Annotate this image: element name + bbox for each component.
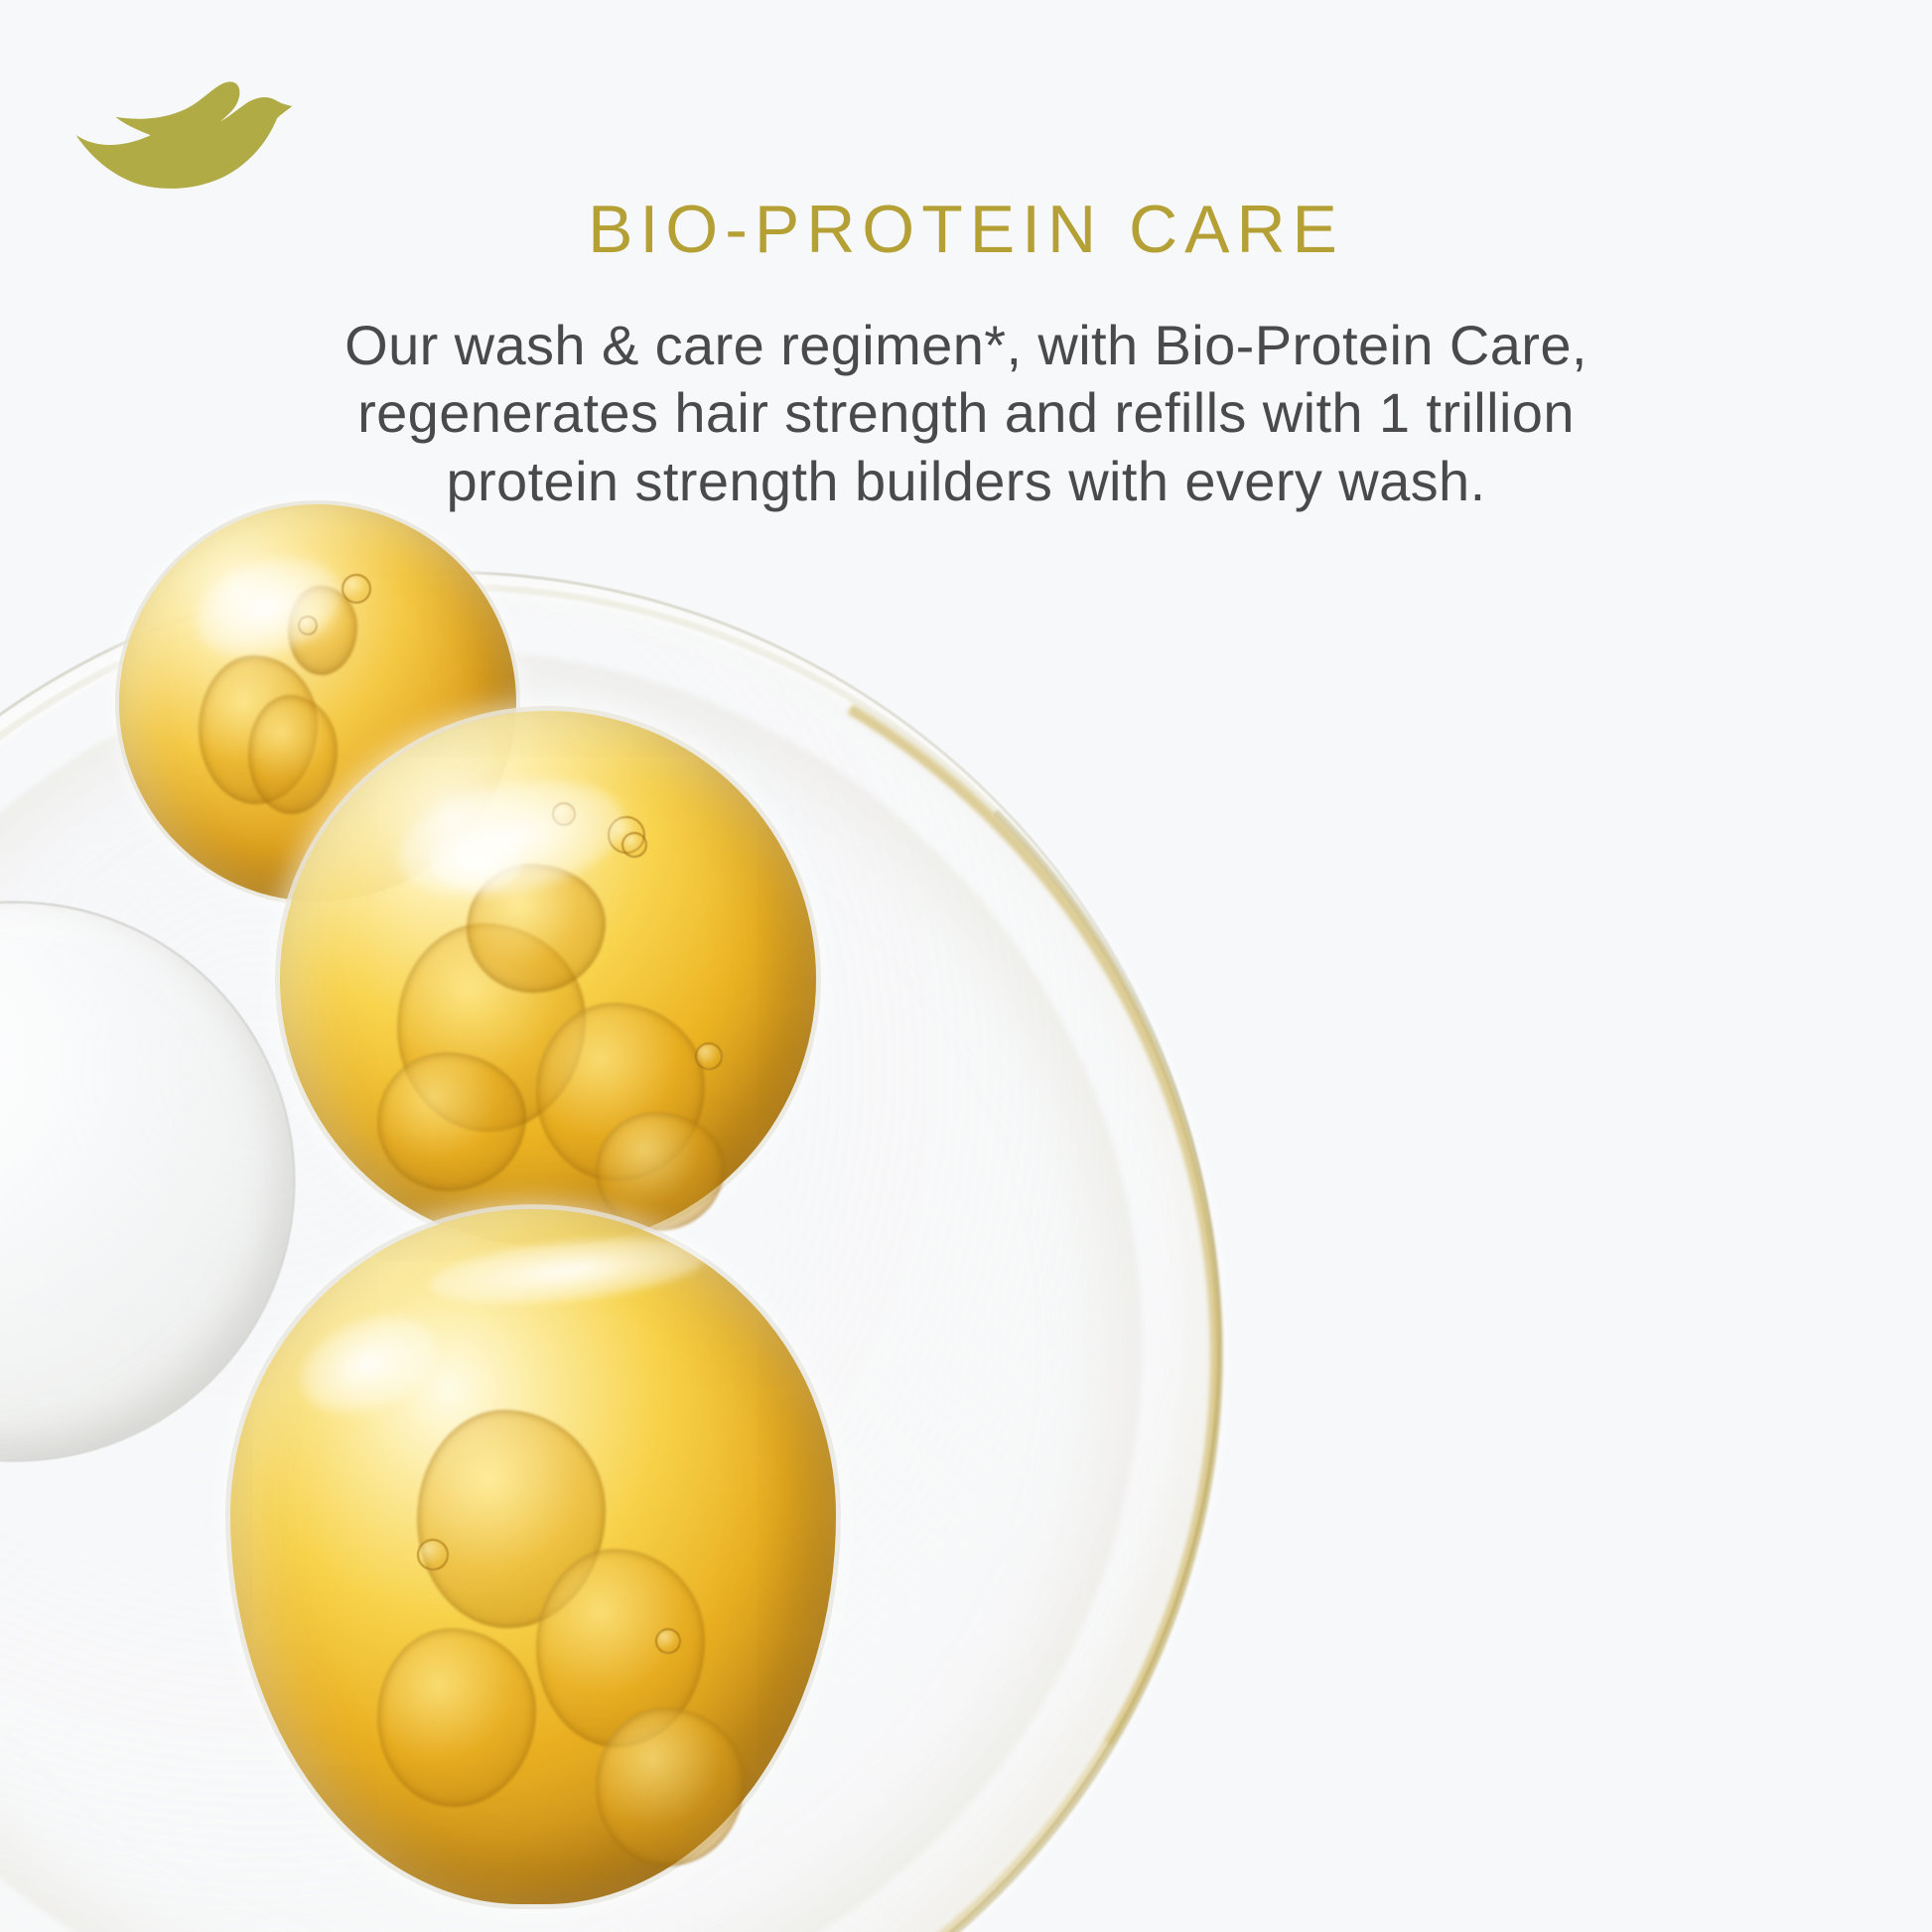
bubble bbox=[621, 832, 647, 858]
body-copy: Our wash & care regimen*, with Bio-Prote… bbox=[321, 312, 1611, 515]
page-title: BIO-PROTEIN CARE bbox=[0, 193, 1932, 267]
bubble bbox=[655, 1628, 681, 1654]
bubble bbox=[298, 616, 318, 635]
promo-card: BIO-PROTEIN CARE Our wash & care regimen… bbox=[0, 0, 1932, 1932]
dove-bird-icon bbox=[71, 60, 300, 199]
bubble bbox=[552, 802, 576, 826]
product-photo bbox=[0, 0, 1932, 1932]
bubble bbox=[695, 1042, 723, 1070]
bubble bbox=[342, 574, 371, 604]
bubble bbox=[417, 1539, 449, 1571]
dove-logo bbox=[71, 60, 300, 199]
